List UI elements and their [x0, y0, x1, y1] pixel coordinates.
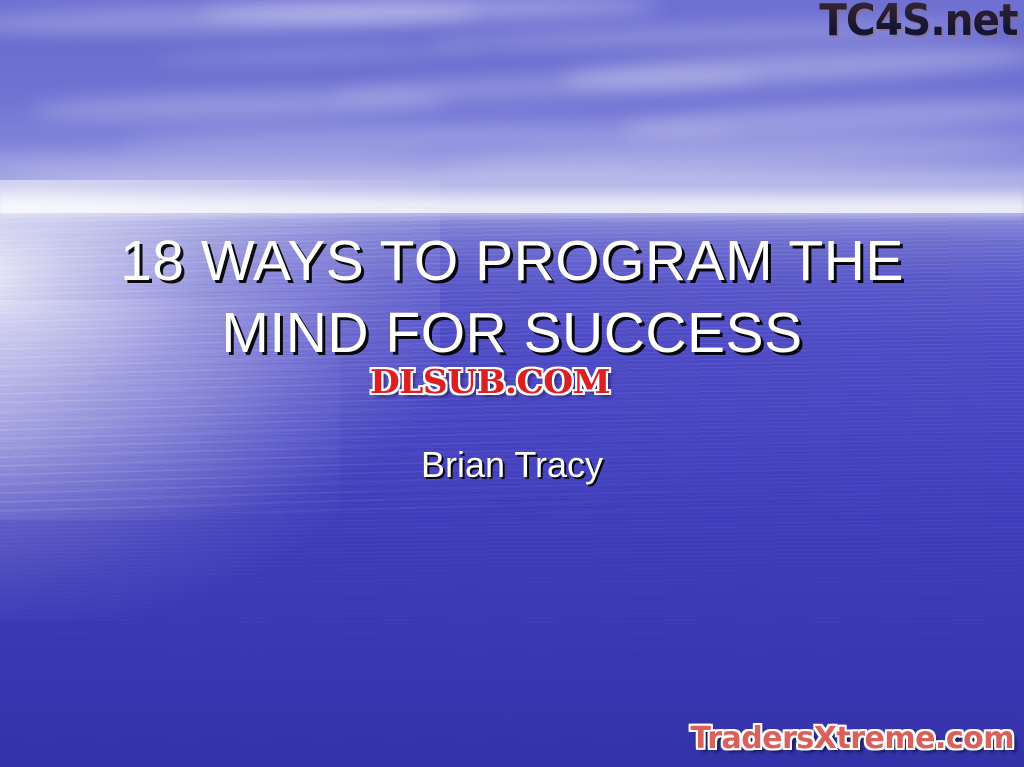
watermark-dlsub: DLSUB.COM	[370, 363, 610, 401]
cloud-wisp	[200, 0, 660, 24]
slide-title-line-2: MIND FOR SUCCESS	[0, 297, 1024, 369]
cloud-wisp	[0, 146, 460, 173]
slide-subtitle: Brian Tracy	[0, 443, 1024, 487]
watermark-tradersxtreme: TradersXtreme.com	[691, 721, 1014, 757]
cloud-wisp	[30, 86, 451, 124]
cloud-wisp	[620, 93, 1024, 142]
presentation-slide: 18 WAYS TO PROGRAM THE MIND FOR SUCCESS …	[0, 0, 1024, 767]
horizon-haze	[0, 186, 1024, 222]
cloud-wisp	[120, 120, 740, 155]
watermark-tc4s: TC4S.net	[820, 0, 1018, 46]
cloud-wisp	[330, 65, 761, 107]
slide-title: 18 WAYS TO PROGRAM THE MIND FOR SUCCESS	[0, 225, 1024, 369]
cloud-wisp	[0, 0, 480, 38]
cloud-wisp	[150, 40, 480, 68]
cloud-wisp	[440, 131, 1024, 176]
slide-title-line-1: 18 WAYS TO PROGRAM THE	[0, 225, 1024, 297]
